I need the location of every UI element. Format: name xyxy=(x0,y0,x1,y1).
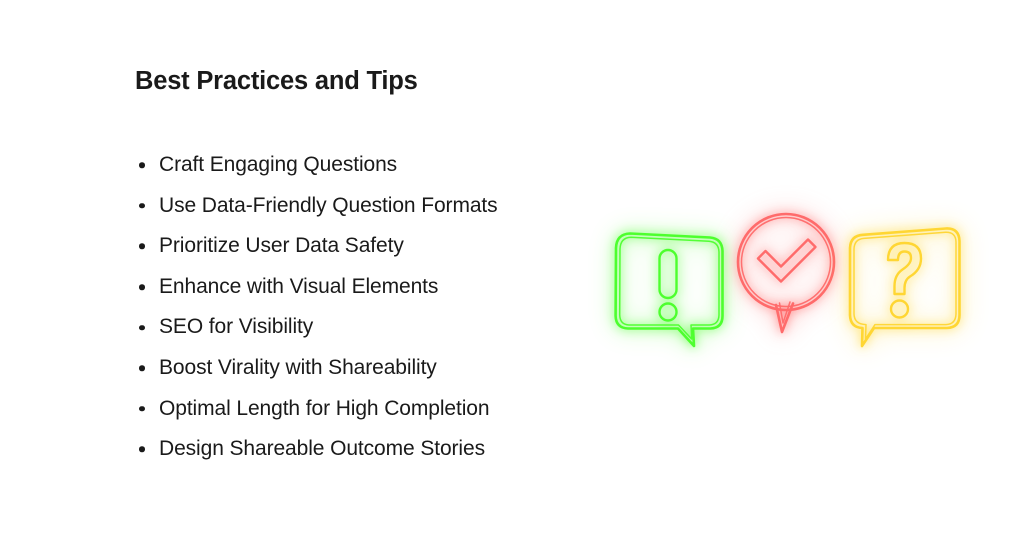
list-item-label: Prioritize User Data Safety xyxy=(159,226,404,267)
list-item: Use Data-Friendly Question Formats xyxy=(139,186,659,227)
list-item: Design Shareable Outcome Stories xyxy=(139,429,659,470)
bullet-dot-icon xyxy=(139,244,145,250)
bullet-dot-icon xyxy=(139,203,145,209)
list-item: Craft Engaging Questions xyxy=(139,145,659,186)
list-item: Prioritize User Data Safety xyxy=(139,226,659,267)
list-item: Boost Virality with Shareability xyxy=(139,348,659,389)
list-item-label: Use Data-Friendly Question Formats xyxy=(159,186,498,227)
list-item-label: Craft Engaging Questions xyxy=(159,145,397,186)
content-column: Best Practices and Tips Craft Engaging Q… xyxy=(135,66,595,97)
list-item: Enhance with Visual Elements xyxy=(139,267,659,308)
list-item: SEO for Visibility xyxy=(139,307,659,348)
bullet-dot-icon xyxy=(139,366,145,372)
bullet-dot-icon xyxy=(139,325,145,331)
best-practices-list: Craft Engaging Questions Use Data-Friend… xyxy=(139,145,659,470)
list-item-label: Enhance with Visual Elements xyxy=(159,267,438,308)
list-item-label: SEO for Visibility xyxy=(159,307,313,348)
exclamation-speech-bubble xyxy=(598,212,738,347)
bullet-dot-icon xyxy=(139,163,145,169)
bullet-dot-icon xyxy=(139,447,145,453)
bullet-dot-icon xyxy=(139,284,145,290)
list-item-label: Boost Virality with Shareability xyxy=(159,348,437,389)
slide-canvas: Best Practices and Tips Craft Engaging Q… xyxy=(0,0,1024,546)
page-title: Best Practices and Tips xyxy=(135,66,595,97)
list-item-label: Design Shareable Outcome Stories xyxy=(159,429,485,470)
speech-bubbles-illustration xyxy=(590,190,1000,360)
list-item: Optimal Length for High Completion xyxy=(139,389,659,430)
bullet-dot-icon xyxy=(139,406,145,412)
list-item-label: Optimal Length for High Completion xyxy=(159,389,489,430)
question-speech-bubble xyxy=(842,212,982,347)
